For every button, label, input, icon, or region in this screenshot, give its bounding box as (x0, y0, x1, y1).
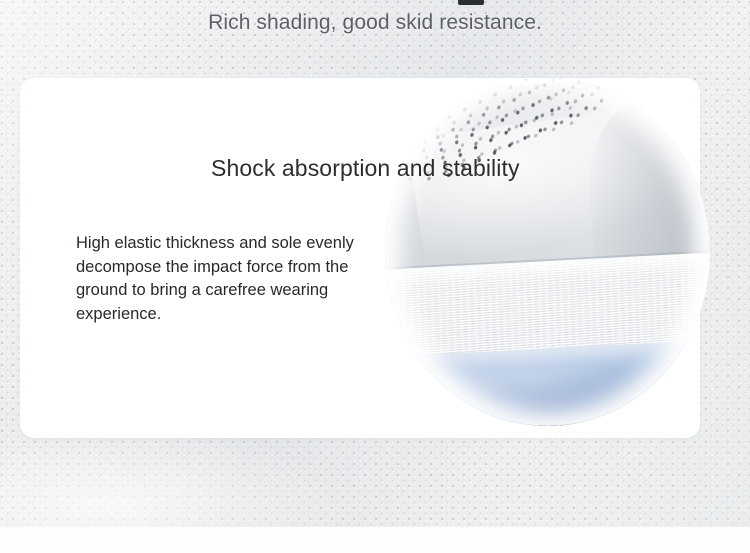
top-caption: Rich shading, good skid resistance. (0, 9, 750, 37)
clipped-dark-bar-icon (458, 0, 484, 5)
product-feature-panel: Rich shading, good skid resistance. Shoc… (0, 0, 750, 553)
bottom-white-strip (0, 527, 750, 553)
feature-body-copy: High elastic thickness and sole evenly d… (76, 232, 356, 326)
product-photo-circle (385, 78, 710, 426)
sneaker-photo (385, 78, 710, 426)
feature-headline: Shock absorption and stability (211, 153, 520, 183)
feature-body-text: High elastic thickness and sole evenly d… (76, 232, 356, 326)
